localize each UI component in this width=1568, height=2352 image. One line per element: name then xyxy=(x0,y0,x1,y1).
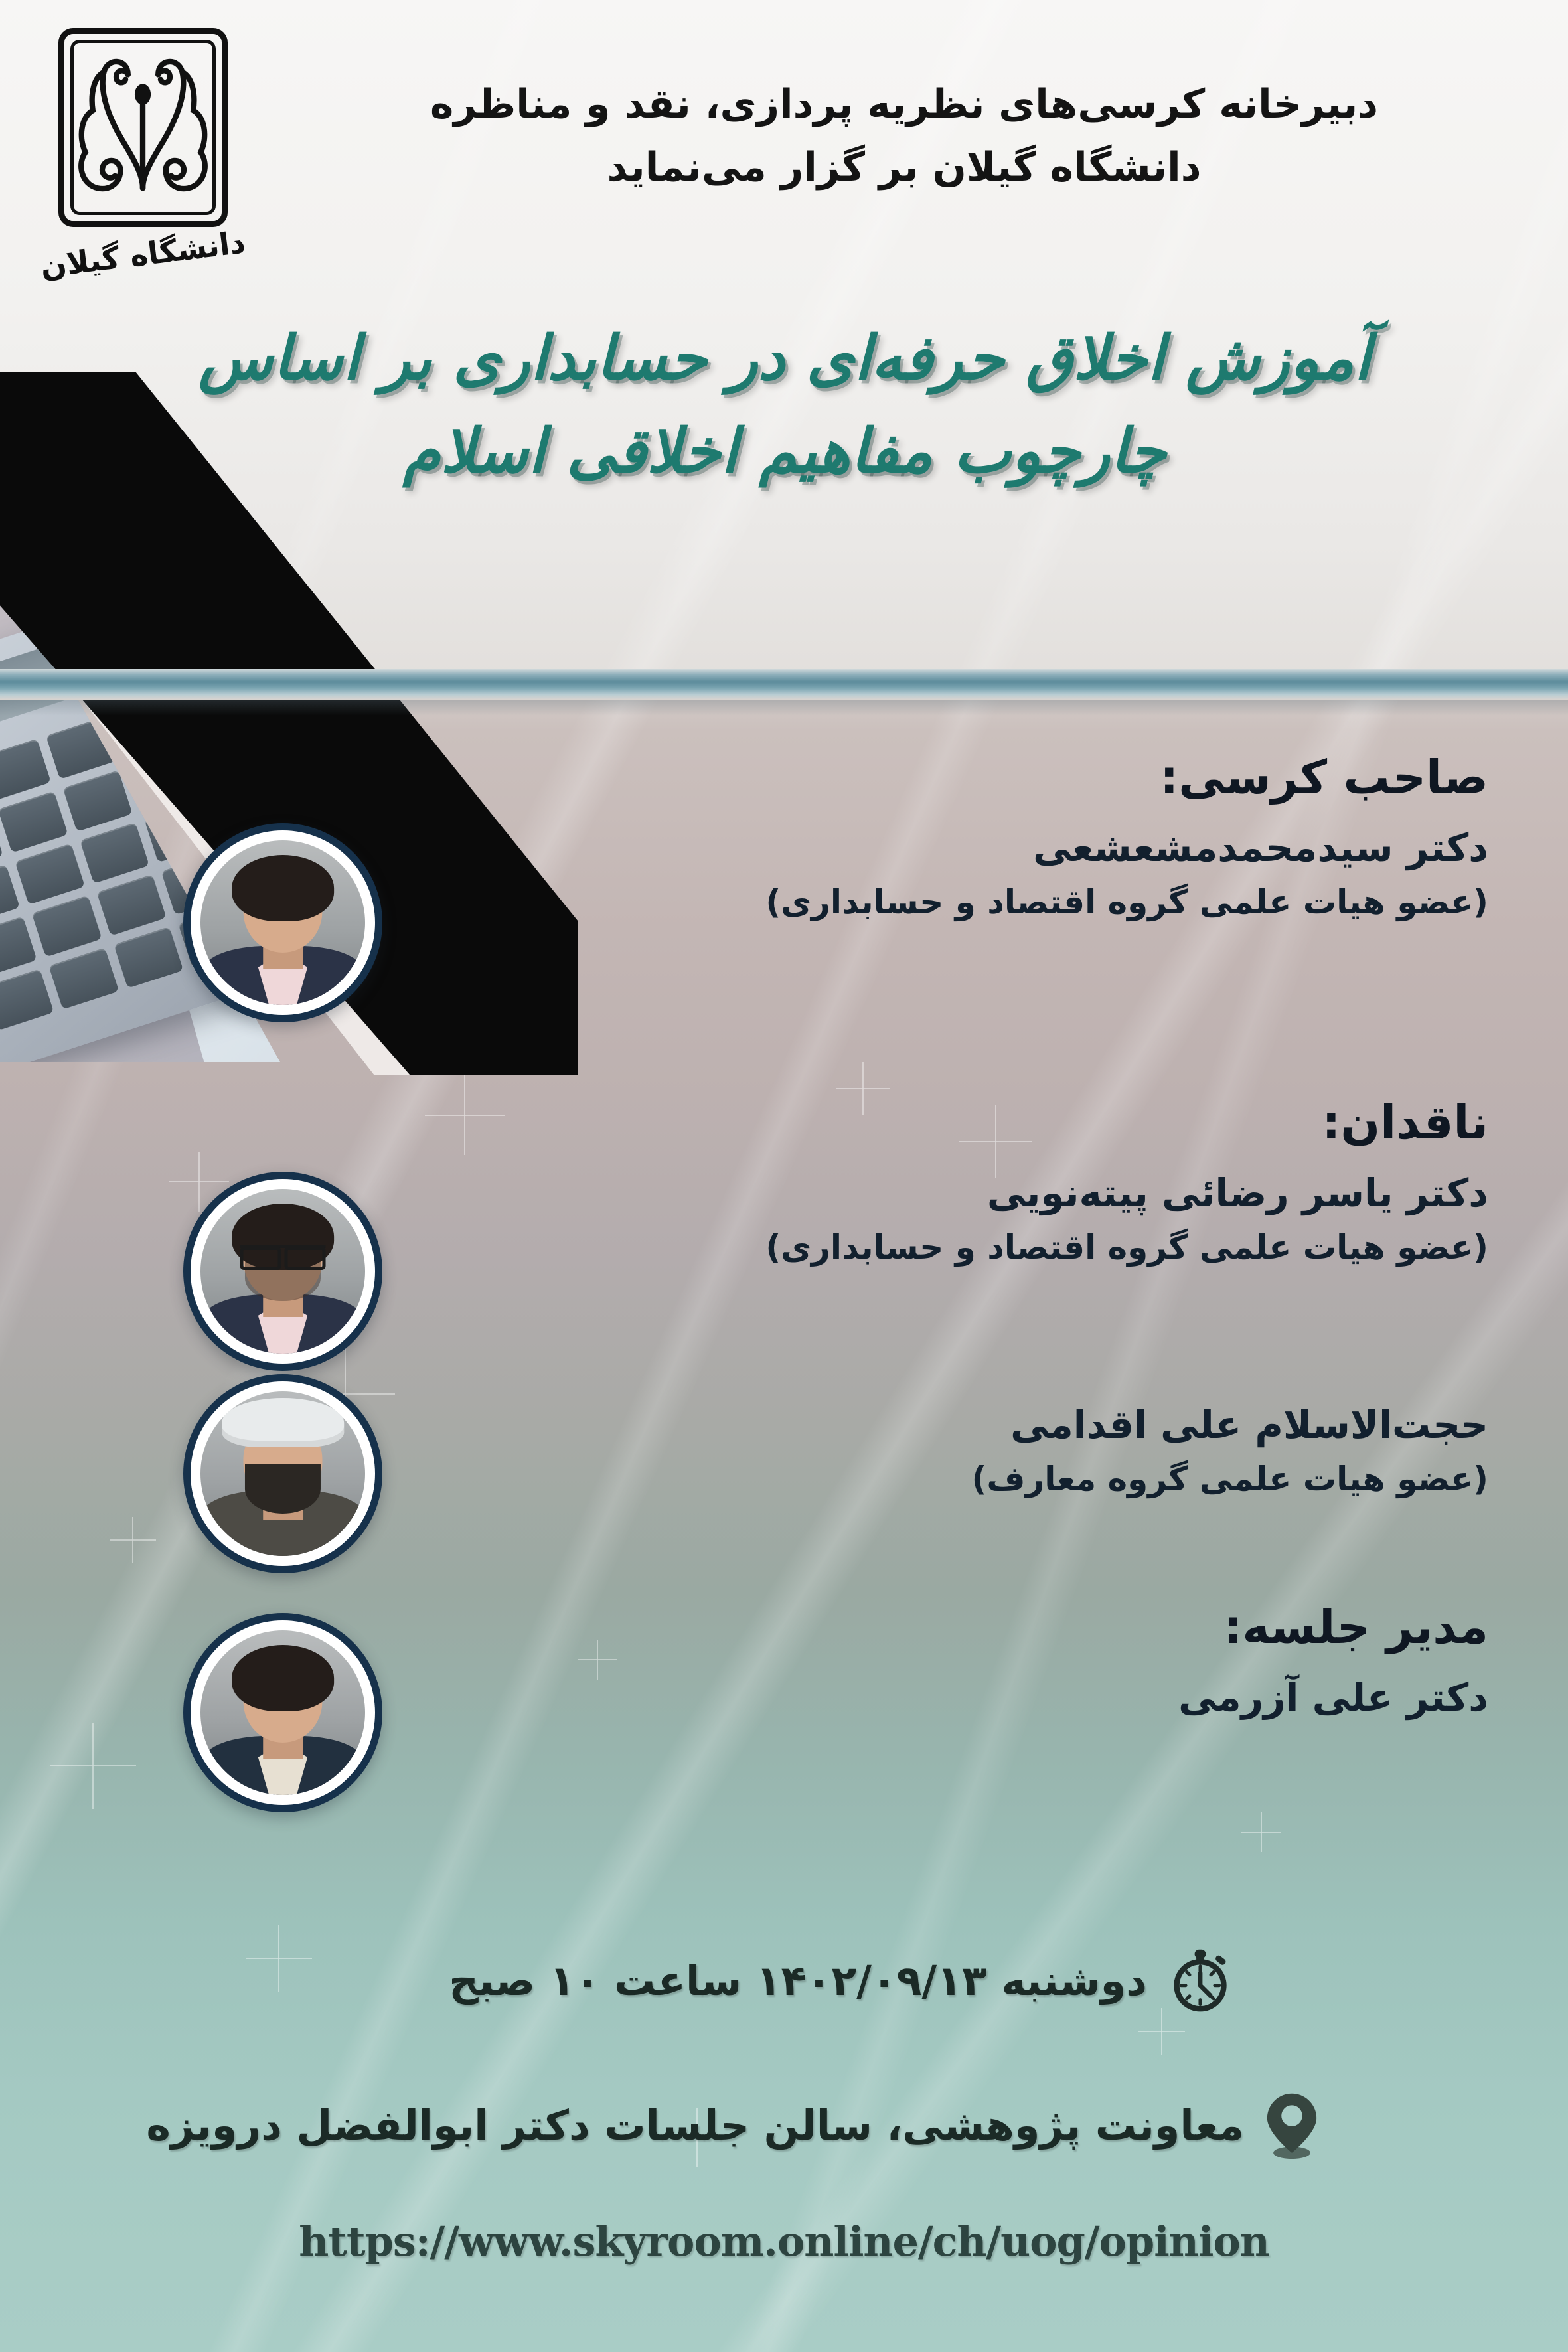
poster-root: دانشگاه گیلان دبیرخانه کرسی‌های نظریه پر… xyxy=(0,0,1568,2352)
avatar xyxy=(183,1374,382,1573)
person-name-critic-two: حجت‌الاسلام علی اقدامی xyxy=(413,1398,1488,1452)
event-location: معاونت پژوهشی، سالن جلسات دکتر ابوالفضل … xyxy=(146,2091,1322,2160)
avatar xyxy=(183,823,382,1022)
organizer-line-2: دانشگاه گیلان بر گزار می‌نماید xyxy=(320,136,1488,199)
event-datetime-text: دوشنبه ۱۴۰۲/۰۹/۱۳ ساعت ۱۰ صبح xyxy=(449,1954,1147,2008)
title-line-2: چارچوب مفاهیم اخلاقی اسلام xyxy=(81,405,1488,498)
person-affiliation-chair: (عضو هیات علمی گروه اقتصاد و حسابداری) xyxy=(413,879,1488,925)
event-datetime: دوشنبه ۱۴۰۲/۰۹/۱۳ ساعت ۱۰ صبح xyxy=(449,1945,1236,2017)
person-chair-holder: صاحب کرسی: دکتر سیدمحمدمشعشعی (عضو هیات … xyxy=(81,744,1488,1022)
avatar xyxy=(183,1613,382,1812)
section-divider xyxy=(0,669,1568,700)
person-critic-one: ناقدان: دکتر یاسر رضائی پیته‌نویی (عضو ه… xyxy=(81,1089,1488,1371)
person-critic-two: حجت‌الاسلام علی اقدامی (عضو هیات علمی گر… xyxy=(81,1368,1488,1573)
title-line-1: آموزش اخلاق حرفه‌ای در حسابداری بر اساس xyxy=(81,312,1488,405)
role-label-critics: ناقدان: xyxy=(413,1091,1488,1154)
person-name-critic-one: دکتر یاسر رضائی پیته‌نویی xyxy=(413,1166,1488,1220)
stopwatch-icon xyxy=(1164,1945,1236,2017)
organizer-line-1: دبیرخانه کرسی‌های نظریه پردازی، نقد و من… xyxy=(320,73,1488,136)
map-pin-icon xyxy=(1261,2091,1322,2160)
organizer-heading: دبیرخانه کرسی‌های نظریه پردازی، نقد و من… xyxy=(320,73,1488,199)
role-label-session-manager: مدیر جلسه: xyxy=(413,1596,1488,1659)
event-location-text: معاونت پژوهشی، سالن جلسات دکتر ابوالفضل … xyxy=(146,2099,1244,2153)
person-affiliation-critic-two: (عضو هیات علمی گروه معارف) xyxy=(413,1456,1488,1502)
person-affiliation-critic-one: (عضو هیات علمی گروه اقتصاد و حسابداری) xyxy=(413,1224,1488,1271)
person-name-session-manager: دکتر علی آزرمی xyxy=(413,1671,1488,1725)
university-logo: دانشگاه گیلان xyxy=(33,28,252,313)
avatar xyxy=(183,1172,382,1371)
section-divider-shadow xyxy=(0,700,1568,716)
university-of-gilan-emblem-icon xyxy=(58,28,228,227)
person-session-manager: مدیر جلسه: دکتر علی آزرمی xyxy=(81,1593,1488,1812)
event-url[interactable]: https://www.skyroom.online/ch/uog/opinio… xyxy=(0,2217,1568,2266)
role-label-chair: صاحب کرسی: xyxy=(413,746,1488,809)
page-title: آموزش اخلاق حرفه‌ای در حسابداری بر اساس … xyxy=(81,312,1488,498)
university-logo-caption: دانشگاه گیلان xyxy=(39,224,248,284)
person-name-chair: دکتر سیدمحمدمشعشعی xyxy=(413,821,1488,875)
